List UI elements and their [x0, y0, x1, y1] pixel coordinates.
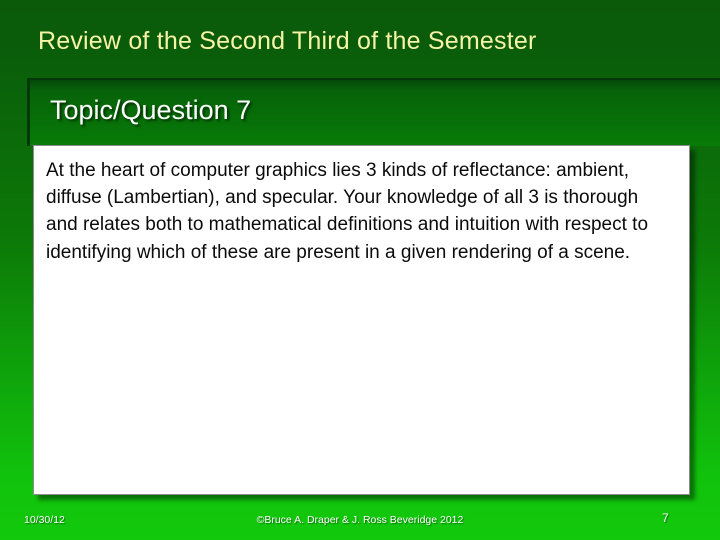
- footer-page-number: 7: [662, 511, 669, 525]
- topic-question-heading: Topic/Question 7: [50, 93, 251, 127]
- footer-copyright: ©Bruce A. Draper & J. Ross Beveridge 201…: [0, 513, 720, 527]
- slide-title: Review of the Second Third of the Semest…: [38, 26, 688, 56]
- body-content-box: At the heart of computer graphics lies 3…: [33, 145, 690, 495]
- slide-footer: 10/30/12 ©Bruce A. Draper & J. Ross Beve…: [0, 510, 720, 530]
- presentation-slide: Review of the Second Third of the Semest…: [0, 0, 720, 540]
- body-paragraph: At the heart of computer graphics lies 3…: [46, 157, 673, 266]
